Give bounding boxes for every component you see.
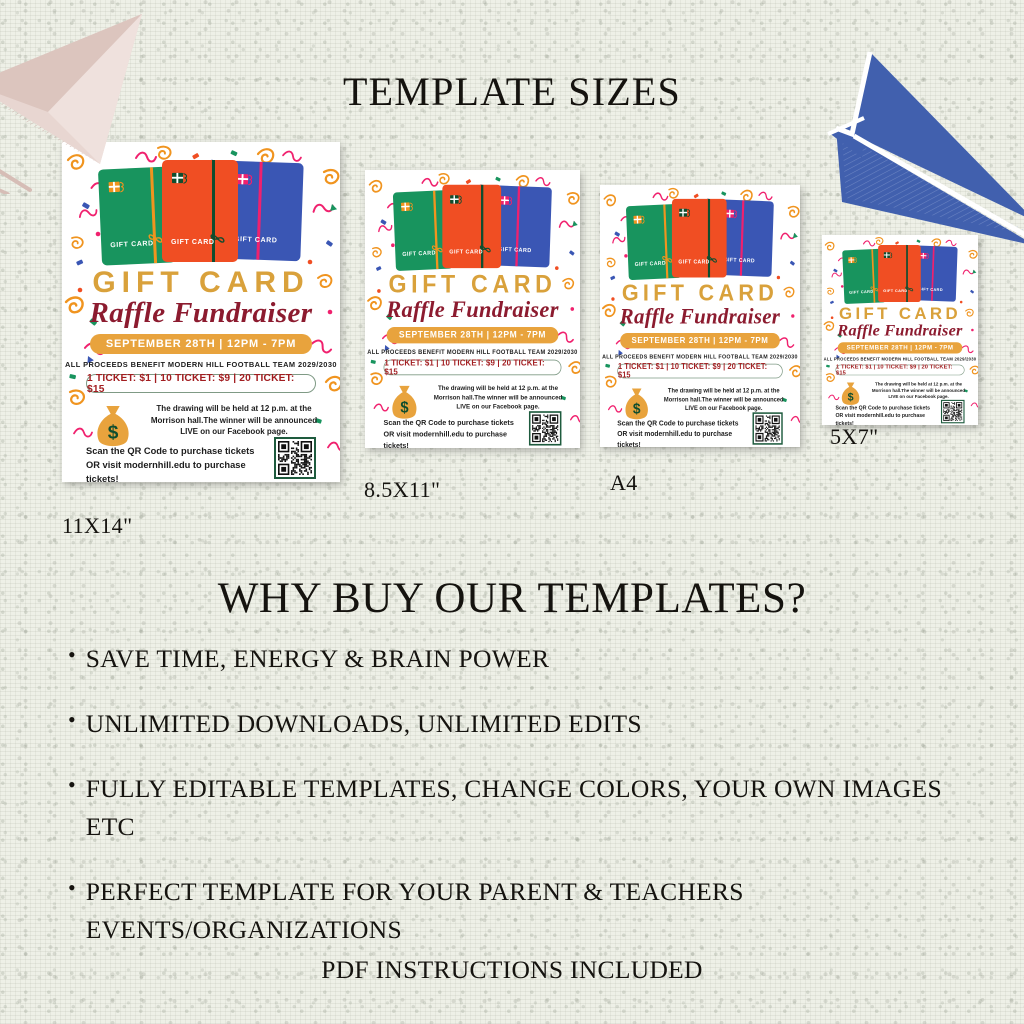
flyer-drawing-info: The drawing will be held at 12 p.m. at t… — [432, 383, 565, 411]
list-item: • PERFECT TEMPLATE FOR YOUR PARENT & TEA… — [68, 873, 988, 949]
ribbon-bow-icon — [479, 244, 491, 255]
bullet-icon: • — [68, 873, 76, 903]
flyer-proceeds-text: ALL PROCEEDS BENEFIT MODERN HILL FOOTBAL… — [365, 348, 580, 355]
flyer-preview-a4[interactable]: GIFT CARD GIFT CARD — [600, 185, 800, 447]
bullet-icon: • — [68, 705, 76, 735]
ribbon-bow-icon — [706, 254, 717, 264]
gift-card-label: GIFT CARD — [171, 239, 215, 246]
list-item: • SAVE TIME, ENERGY & BRAIN POWER — [68, 640, 988, 678]
gift-box-icon — [237, 172, 254, 187]
size-label-8_5x11: 8.5X11" — [364, 477, 440, 503]
flyer-proceeds-text: ALL PROCEEDS BENEFIT MODERN HILL FOOTBAL… — [822, 357, 978, 362]
flyer-date-banner: SEPTEMBER 28TH | 12PM - 7PM — [90, 334, 312, 354]
bullet-icon: • — [68, 770, 76, 800]
ribbon-bow-icon — [210, 232, 225, 245]
gift-card-label: GIFT CARD — [449, 249, 483, 255]
qr-code[interactable] — [941, 400, 965, 423]
flyer-ticket-prices: 1 TICKET: $1 | 10 TICKET: $9 | 20 TICKET… — [835, 365, 964, 376]
flyer-drawing-info: The drawing will be held at 12 p.m. at t… — [662, 386, 786, 413]
qr-code[interactable] — [274, 437, 316, 479]
benefits-list: • SAVE TIME, ENERGY & BRAIN POWER • UNLI… — [68, 640, 988, 976]
gift-card-label: GIFT CARD — [234, 236, 278, 245]
flyer-title-script: Raffle Fundraiser — [600, 304, 800, 329]
flyer-proceeds-text: ALL PROCEEDS BENEFIT MODERN HILL FOOTBAL… — [62, 360, 340, 369]
svg-text:$: $ — [848, 392, 854, 404]
size-label-5x7: 5X7" — [830, 424, 878, 450]
gift-cards-illustration: GIFT CARD GIFT CARD — [627, 199, 774, 280]
gift-box-icon — [500, 195, 514, 207]
flyer-scan-info: Scan the QR Code to purchase tickets OR … — [384, 417, 523, 448]
gift-card-label: GIFT CARD — [498, 247, 532, 254]
flyer-title-script: Raffle Fundraiser — [822, 322, 978, 340]
flyer-date-banner: SEPTEMBER 28TH | 12PM - 7PM — [620, 333, 780, 348]
gift-card-orange: GIFT CARD — [672, 199, 727, 278]
flyer-ticket-prices: 1 TICKET: $1 | 10 TICKET: $9 | 20 TICKET… — [86, 374, 316, 393]
benefit-text: PERFECT TEMPLATE FOR YOUR PARENT & TEACH… — [86, 873, 988, 949]
flyer-title-main: GIFT CARD — [62, 266, 340, 300]
list-item: • UNLIMITED DOWNLOADS, UNLIMITED EDITS — [68, 705, 988, 743]
flyer-proceeds-text: ALL PROCEEDS BENEFIT MODERN HILL FOOTBAL… — [600, 353, 800, 360]
gift-card-orange: GIFT CARD — [442, 185, 501, 268]
benefit-text: UNLIMITED DOWNLOADS, UNLIMITED EDITS — [86, 705, 642, 743]
flyer-drawing-info: The drawing will be held at 12 p.m. at t… — [148, 403, 320, 438]
flyer-preview-8_5x11[interactable]: GIFT CARD GIFT CARD — [365, 170, 580, 448]
svg-text:$: $ — [400, 399, 409, 416]
flyer-drawing-info: The drawing will be held at 12 p.m. at t… — [870, 381, 967, 400]
gift-card-label: GIFT CARD — [918, 288, 943, 293]
size-label-11x14: 11X14" — [62, 513, 132, 539]
gift-box-icon — [726, 208, 739, 219]
flyer-title-script: Raffle Fundraiser — [365, 297, 580, 324]
bullet-icon: • — [68, 640, 76, 670]
flyer-ticket-prices: 1 TICKET: $1 | 10 TICKET: $9 | 20 TICKET… — [384, 360, 562, 376]
gift-card-label: GIFT CARD — [724, 257, 755, 264]
flyer-title-main: GIFT CARD — [822, 304, 978, 323]
flyer-date-banner: SEPTEMBER 28TH | 12PM - 7PM — [838, 342, 963, 353]
flyer-scan-info: Scan the QR Code to purchase tickets OR … — [835, 404, 936, 425]
gift-box-icon — [450, 194, 463, 205]
ribbon-bow-icon — [905, 285, 913, 292]
page-title-why-buy: WHY BUY OUR TEMPLATES? — [0, 574, 1024, 623]
size-label-a4: A4 — [610, 470, 638, 496]
gift-box-icon — [633, 214, 646, 225]
flyer-scan-info: Scan the QR Code to purchase tickets OR … — [617, 418, 746, 447]
flyer-scan-info: Scan the QR Code to purchase tickets OR … — [86, 444, 266, 482]
gift-card-label: GIFT CARD — [678, 260, 709, 265]
benefit-text: FULLY EDITABLE TEMPLATES, CHANGE COLORS,… — [86, 770, 988, 846]
flyer-title-script: Raffle Fundraiser — [62, 297, 340, 330]
benefit-text: SAVE TIME, ENERGY & BRAIN POWER — [86, 640, 550, 678]
flyer-ticket-prices: 1 TICKET: $1 | 10 TICKET: $9 | 20 TICKET… — [617, 364, 782, 379]
page-title-template-sizes: TEMPLATE SIZES — [0, 68, 1024, 115]
ribbon-bow-icon — [148, 232, 163, 245]
qr-code[interactable] — [753, 412, 783, 444]
gift-card-label: GIFT CARD — [883, 289, 907, 293]
flyer-title-main: GIFT CARD — [365, 271, 580, 299]
qr-code[interactable] — [529, 411, 561, 445]
flyer-title-main: GIFT CARD — [600, 281, 800, 307]
gift-box-icon — [679, 207, 691, 218]
svg-text:$: $ — [108, 422, 119, 443]
list-item: • FULLY EDITABLE TEMPLATES, CHANGE COLOR… — [68, 770, 988, 846]
svg-text:$: $ — [633, 401, 641, 418]
gift-box-icon — [401, 201, 415, 213]
flyer-date-banner: SEPTEMBER 28TH | 12PM - 7PM — [387, 327, 559, 343]
pdf-instructions-note: PDF INSTRUCTIONS INCLUDED — [0, 955, 1024, 985]
gift-cards-illustration: GIFT CARD GIFT CARD — [394, 185, 553, 271]
